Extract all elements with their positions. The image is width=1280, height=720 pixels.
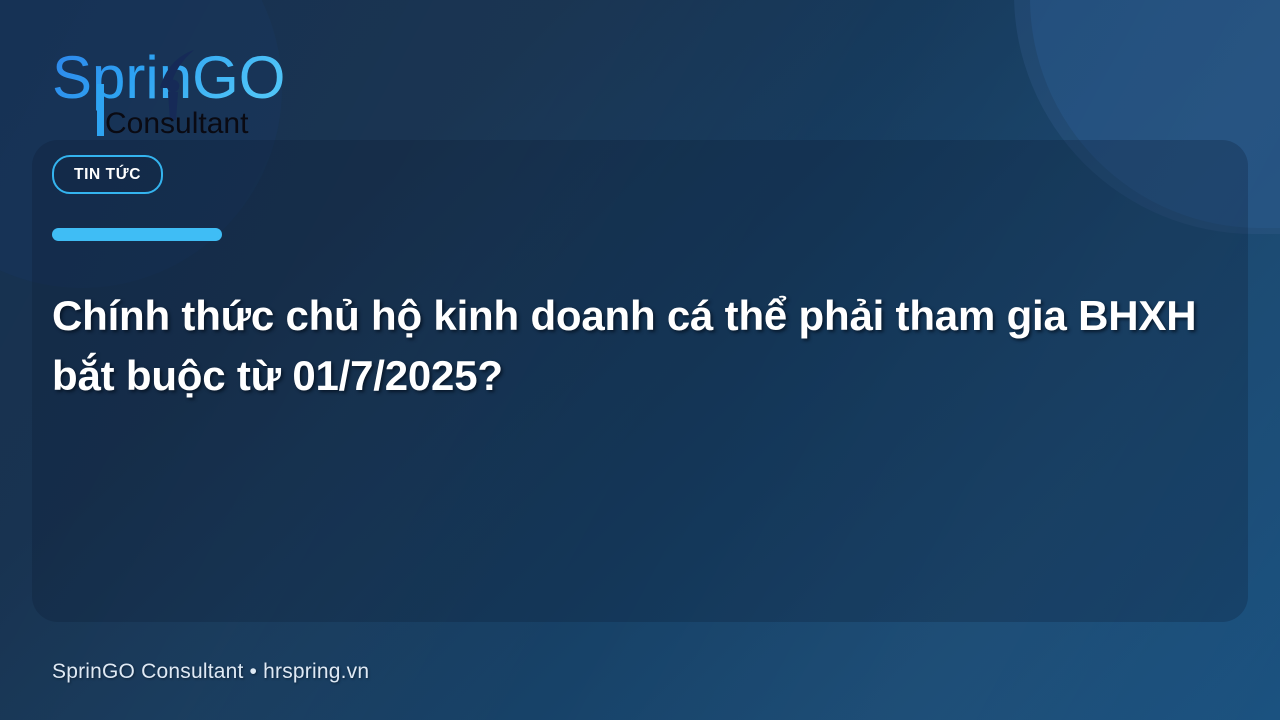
logo-p-stem [97, 84, 104, 136]
news-banner: SprinGO Consultant TIN TỨC Chính thức ch… [0, 0, 1280, 720]
page-title: Chính thức chủ hộ kinh doanh cá thể phải… [52, 286, 1232, 405]
news-category-badge[interactable]: TIN TỨC [52, 155, 163, 194]
accent-bar [52, 228, 222, 241]
footer-attribution: SprinGO Consultant • hrspring.vn [52, 660, 369, 684]
springo-logo-svg: SprinGO Consultant [52, 48, 352, 144]
logo-subtitle: Consultant [105, 107, 249, 140]
springo-logo[interactable]: SprinGO Consultant [52, 48, 352, 144]
